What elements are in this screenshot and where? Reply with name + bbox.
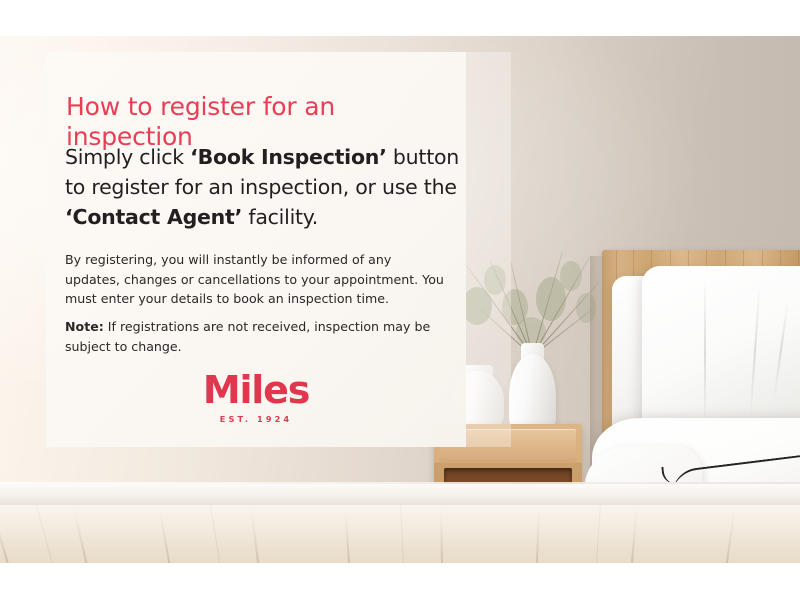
note-label: Note: bbox=[65, 319, 104, 334]
letterbox-top bbox=[0, 0, 800, 36]
screenshot-root: How to register for an inspection Simply… bbox=[0, 0, 800, 600]
floor-sheen bbox=[0, 505, 800, 563]
lead-before-bold1: Simply click bbox=[65, 145, 190, 169]
logo-established: EST. 1924 bbox=[46, 414, 466, 424]
book-inspection-emphasis: ‘Book Inspection’ bbox=[190, 145, 387, 169]
vase-tall bbox=[509, 354, 556, 434]
note-text: If registrations are not received, inspe… bbox=[65, 319, 430, 354]
registration-info-paragraph: By registering, you will instantly be in… bbox=[65, 250, 450, 309]
logo-wordmark: Miles bbox=[46, 370, 466, 410]
letterbox-bottom bbox=[0, 563, 800, 600]
overlay-content: How to register for an inspection Simply… bbox=[46, 52, 466, 447]
lead-paragraph: Simply click ‘Book Inspection’ button to… bbox=[65, 142, 460, 232]
contact-agent-emphasis: ‘Contact Agent’ bbox=[65, 205, 242, 229]
note-paragraph: Note: If registrations are not received,… bbox=[65, 317, 450, 356]
lead-after-bold2: facility. bbox=[242, 205, 318, 229]
brand-logo: Miles EST. 1924 bbox=[46, 370, 466, 424]
